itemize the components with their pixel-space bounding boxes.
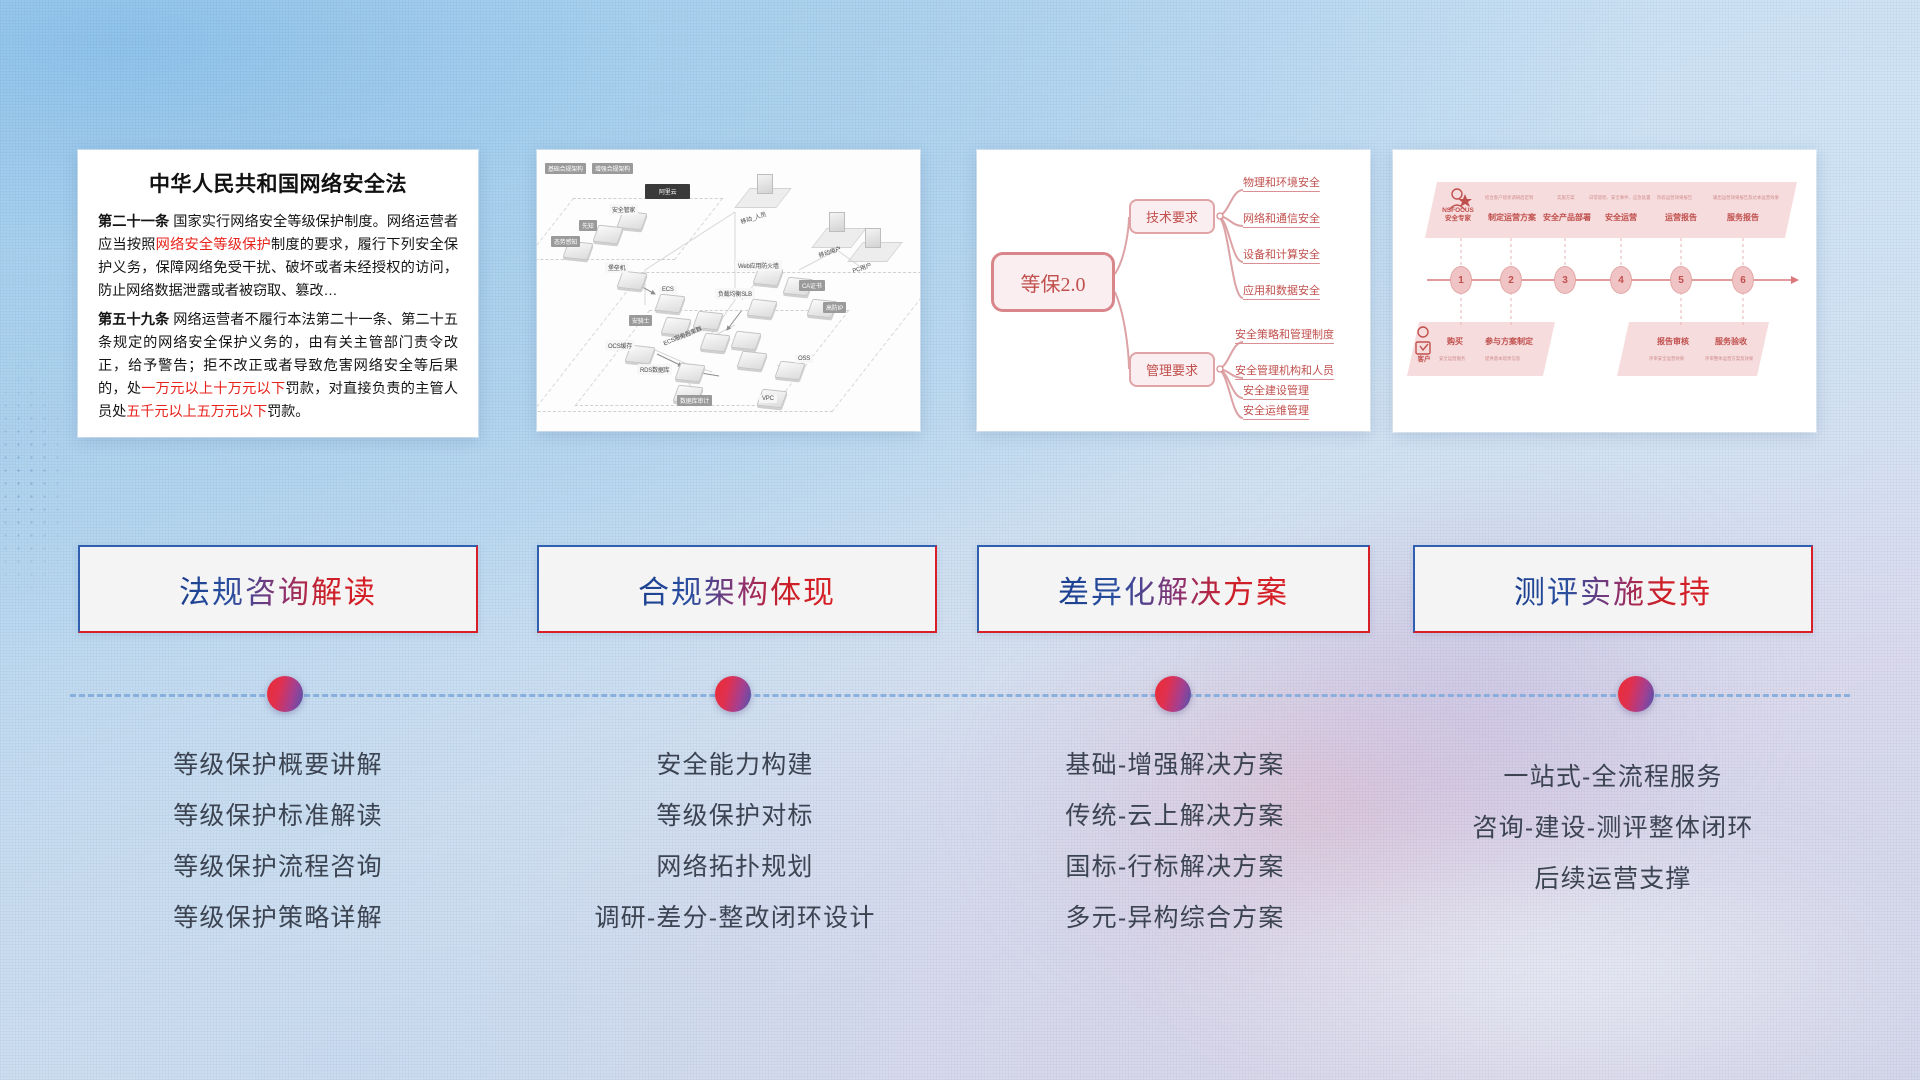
list-item: 等级保护流程咨询 xyxy=(78,842,478,893)
process-top-sub-2: 结合客户现状调研后定制 xyxy=(1485,195,1533,201)
timeline-dot-2[interactable] xyxy=(715,676,751,712)
list-item: 传统-云上解决方案 xyxy=(1000,791,1350,842)
process-axis-arrow xyxy=(1791,276,1799,284)
mindmap-leaf-build: 安全建设管理 xyxy=(1243,382,1309,400)
customer-role: 客户 xyxy=(1409,356,1439,364)
law-title: 中华人民共和国网络安全法 xyxy=(98,168,458,198)
list-item: 等级保护对标 xyxy=(500,791,970,842)
card-mindmap-dengbao: 等保2.0 技术要求 管理要求 物理和环境安全 网络和通信安全 设备和计算安全 … xyxy=(977,150,1370,431)
arch-label-slb: 负载均衡SLB xyxy=(715,288,755,299)
timeline-dot-1[interactable] xyxy=(267,676,303,712)
arch-device-mobile-user xyxy=(829,212,845,232)
arch-label-oss: OSS xyxy=(795,355,813,363)
illustration-card-row: 中华人民共和国网络安全法 第二十一条 国家实行网络安全等级保护制度。网络运营者应… xyxy=(0,150,1920,445)
section-title-row: 法规咨询解读 合规架构体现 差异化解决方案 测评实施支持 xyxy=(0,545,1920,645)
list-item: 咨询-建设-测评整体闭环 xyxy=(1413,803,1813,854)
article-59-highlight-1: 一万元以上十万元以下 xyxy=(141,381,285,397)
arch-label-bastion: 堡垒机 xyxy=(605,262,628,273)
list-item: 安全能力构建 xyxy=(500,740,970,791)
section-title-box-1[interactable]: 法规咨询解读 xyxy=(78,545,478,633)
arch-label-ecs: ECS xyxy=(659,286,677,294)
list-item: 基础-增强解决方案 xyxy=(1000,740,1350,791)
process-bottom-sub-6: 评审整体运营方案及效果 xyxy=(1705,356,1753,362)
arch-label-security-butler: 安全管家 xyxy=(609,204,638,215)
process-bottom-sub-2: 提供基本现状信息 xyxy=(1485,356,1520,362)
process-bottom-title-5: 报告审核 xyxy=(1657,336,1689,347)
section-title-box-4[interactable]: 测评实施支持 xyxy=(1413,545,1813,633)
process-top-title-5: 运营报告 xyxy=(1665,212,1697,223)
process-band-bottom-left xyxy=(1407,322,1555,376)
arch-label-ca: CA证书 xyxy=(799,280,825,291)
detail-list-1: 等级保护概要讲解 等级保护标准解读 等级保护流程咨询 等级保护策略详解 xyxy=(78,740,478,944)
mindmap: 等保2.0 技术要求 管理要求 物理和环境安全 网络和通信安全 设备和计算安全 … xyxy=(977,150,1370,431)
detail-list-2: 安全能力构建 等级保护对标 网络拓扑规划 调研-差分-整改闭环设计 xyxy=(500,740,970,944)
mindmap-leaf-device: 设备和计算安全 xyxy=(1243,246,1320,264)
arch-tab-enhanced[interactable]: 增强合规架构 xyxy=(592,163,633,174)
list-item: 多元-异构综合方案 xyxy=(1000,893,1350,944)
article-59-text-3: 罚款。 xyxy=(267,404,309,420)
process-customer-persona: 客户 xyxy=(1409,356,1439,364)
expert-name: NSFOCUS xyxy=(1435,207,1481,215)
mindmap-root: 等保2.0 xyxy=(991,252,1115,312)
list-item: 等级保护标准解读 xyxy=(78,791,478,842)
list-item: 等级保护策略详解 xyxy=(78,893,478,944)
section-title-label-2: 合规架构体现 xyxy=(638,567,836,612)
arch-label-xianzhi: 先知 xyxy=(579,220,597,231)
expert-role: 安全专家 xyxy=(1435,215,1481,223)
card-service-process: NSFOCUS 安全专家 客户 结合客户现状调研后定制 制定运营方案 实施方案 … xyxy=(1393,150,1816,432)
process-bottom-title-2: 参与方案制定 xyxy=(1485,336,1533,347)
section-title-box-3[interactable]: 差异化解决方案 xyxy=(977,545,1370,633)
list-item: 后续运营支撑 xyxy=(1413,854,1813,905)
card-cybersecurity-law: 中华人民共和国网络安全法 第二十一条 国家实行网络安全等级保护制度。网络运营者应… xyxy=(78,150,478,437)
arch-label-vpc: VPC xyxy=(759,395,777,403)
process-top-sub-5: 阶段运营效果报告 xyxy=(1657,195,1692,201)
arch-label-anqishi: 安骑士 xyxy=(629,315,652,326)
section-title-label-4: 测评实施支持 xyxy=(1514,567,1712,612)
section-title-box-2[interactable]: 合规架构体现 xyxy=(537,545,937,633)
article-59-highlight-2: 五千元以上五万元以下 xyxy=(126,404,267,420)
arch-label-db-audit: 数据库审计 xyxy=(677,395,712,406)
mindmap-leaf-org: 安全管理机构和人员 xyxy=(1235,362,1334,380)
detail-list-4: 一站式-全流程服务 咨询-建设-测评整体闭环 后续运营支撑 xyxy=(1413,752,1813,905)
mindmap-branch-management: 管理要求 xyxy=(1129,352,1215,387)
mindmap-leaf-network: 网络和通信安全 xyxy=(1243,210,1320,228)
timeline-axis xyxy=(70,693,1850,697)
list-item: 网络拓扑规划 xyxy=(500,842,970,893)
arch-device-pc-user xyxy=(865,228,881,248)
process-expert-persona: NSFOCUS 安全专家 xyxy=(1435,207,1481,223)
arch-label-waf: Web应用防火墙 xyxy=(735,260,782,271)
list-item: 调研-差分-整改闭环设计 xyxy=(500,893,970,944)
mindmap-collapse-dot-2 xyxy=(1217,366,1223,372)
process-step-number-3: 3 xyxy=(1554,266,1576,294)
process-top-title-2: 制定运营方案 xyxy=(1488,212,1536,223)
process-bottom-sub-5: 评审安全运营效果 xyxy=(1649,356,1684,362)
process-diagram: NSFOCUS 安全专家 客户 结合客户现状调研后定制 制定运营方案 实施方案 … xyxy=(1393,150,1816,432)
process-band-bottom-right xyxy=(1617,322,1769,376)
process-top-title-4: 安全运营 xyxy=(1605,212,1637,223)
law-article-21: 第二十一条 国家实行网络安全等级保护制度。网络运营者应当按照网络安全等级保护制度… xyxy=(98,211,458,303)
section-title-label-3: 差异化解决方案 xyxy=(1058,567,1289,612)
article-59-label: 第五十九条 xyxy=(98,312,169,328)
process-top-title-6: 服务报告 xyxy=(1727,212,1759,223)
process-top-sub-4: 日常巡检、安全事件、应急处置 xyxy=(1589,195,1650,201)
section-title-label-1: 法规咨询解读 xyxy=(179,567,377,612)
list-item: 等级保护概要讲解 xyxy=(78,740,478,791)
architecture-diagram: 基础合规架构 增强合规架构 阿里云 xyxy=(537,150,920,431)
arch-device-mobile xyxy=(757,174,773,194)
detail-list-3: 基础-增强解决方案 传统-云上解决方案 国标-行标解决方案 多元-异构综合方案 xyxy=(1000,740,1350,944)
timeline-dot-3[interactable] xyxy=(1155,676,1191,712)
list-item: 一站式-全流程服务 xyxy=(1413,752,1813,803)
process-step-number-4: 4 xyxy=(1610,266,1632,294)
process-bottom-title-1: 购买 xyxy=(1447,336,1463,347)
mindmap-leaf-ops: 安全运维管理 xyxy=(1243,402,1309,420)
arch-label-situational: 态势感知 xyxy=(551,236,580,247)
process-step-number-1: 1 xyxy=(1450,266,1472,294)
timeline-dot-4[interactable] xyxy=(1618,676,1654,712)
mindmap-leaf-app-data: 应用和数据安全 xyxy=(1243,282,1320,300)
mindmap-leaf-physical: 物理和环境安全 xyxy=(1243,174,1320,192)
process-step-number-2: 2 xyxy=(1500,266,1522,294)
law-article-59: 第五十九条 网络运营者不履行本法第二十一条、第二十五条规定的网络安全保护义务的，… xyxy=(98,309,458,424)
process-bottom-sub-1: 安全运营服务 xyxy=(1439,356,1465,362)
mindmap-leaf-policy: 安全策略和管理制度 xyxy=(1235,326,1334,344)
arch-label-ocs: OCS缓存 xyxy=(605,340,635,351)
article-21-label: 第二十一条 xyxy=(98,214,169,230)
timeline-dashed-line xyxy=(70,694,1850,697)
arch-label-high-ip: 高防IP xyxy=(823,302,846,313)
list-item: 国标-行标解决方案 xyxy=(1000,842,1350,893)
law-document: 中华人民共和国网络安全法 第二十一条 国家实行网络安全等级保护制度。网络运营者应… xyxy=(78,150,478,437)
article-21-highlight: 网络安全等级保护 xyxy=(156,237,271,253)
arch-tab-basic[interactable]: 基础合规架构 xyxy=(545,163,586,174)
process-bottom-title-6: 服务验收 xyxy=(1715,336,1747,347)
process-top-title-3: 安全产品部署 xyxy=(1543,212,1591,223)
process-top-sub-3: 实施方案 xyxy=(1557,195,1575,201)
process-step-number-6: 6 xyxy=(1732,266,1754,294)
slide-stage: 中华人民共和国网络安全法 第二十一条 国家实行网络安全等级保护制度。网络运营者应… xyxy=(0,0,1920,1080)
card-cloud-architecture: 基础合规架构 增强合规架构 阿里云 xyxy=(537,150,920,431)
mindmap-collapse-dot-1 xyxy=(1217,213,1223,219)
process-step-number-5: 5 xyxy=(1670,266,1692,294)
arch-label-rds: RDS数据库 xyxy=(637,364,672,375)
mindmap-branch-technical: 技术要求 xyxy=(1129,199,1215,234)
arch-banner-aliyun: 阿里云 xyxy=(645,184,690,199)
process-top-sub-6: 输出运营效果报告及达本运营效果 xyxy=(1713,195,1779,201)
